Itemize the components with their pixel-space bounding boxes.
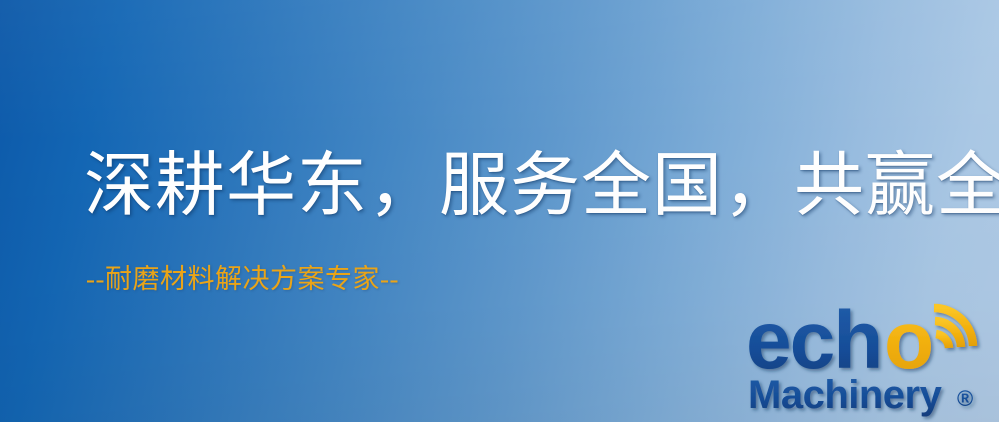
- logo-trademark-symbol: ®: [957, 386, 973, 411]
- echo-machinery-logo: ech o Machinery ®: [744, 292, 994, 418]
- logo-text-machinery: Machinery: [748, 373, 943, 417]
- hero-banner: 深耕华东，服务全国，共赢全球 --耐磨材料解决方案专家--: [0, 0, 999, 422]
- signal-wave-icon: [934, 308, 973, 348]
- banner-subtitle: --耐磨材料解决方案专家--: [86, 266, 399, 293]
- banner-headline: 深耕华东，服务全国，共赢全球: [84, 152, 999, 222]
